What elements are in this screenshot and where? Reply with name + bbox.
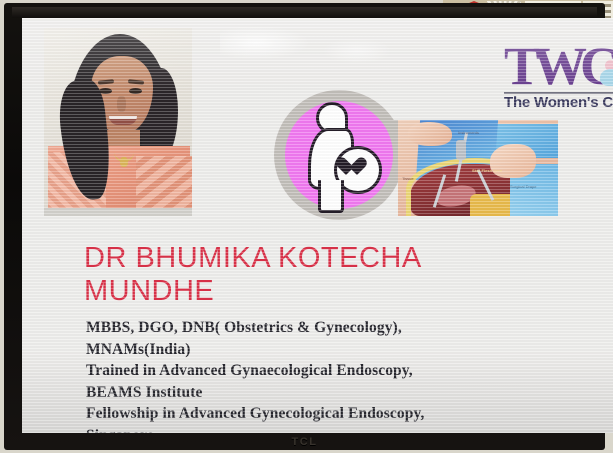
doctor-portrait-photo	[44, 28, 192, 208]
silhouette-legs	[318, 180, 344, 213]
illustration-label-top: Instruments	[458, 130, 479, 135]
title-line-1: DR BHUMIKA KOTECHA	[84, 242, 554, 275]
bezel-top-highlight	[12, 7, 597, 18]
baby-icon	[600, 60, 613, 86]
credential-line: Singapore	[86, 425, 586, 434]
credential-line: MBBS, DGO, DNB( Obstetrics & Gynecology)…	[86, 317, 586, 339]
portrait-pendant	[120, 157, 128, 167]
credential-line: MNAMs(India)	[86, 339, 586, 361]
tv-screen-slide: Instruments Skin Flesh Area Surgical Dra…	[22, 18, 613, 433]
credential-line: BEAMS Institute	[86, 382, 586, 404]
page-title: DR BHUMIKA KOTECHA MUNDHE	[84, 242, 554, 308]
illustration-clamp	[456, 140, 466, 160]
illustration-label-left: Tissue	[402, 176, 414, 181]
pregnancy-icon	[274, 90, 404, 220]
credentials-list: MBBS, DGO, DNB( Obstetrics & Gynecology)…	[86, 317, 586, 433]
twc-monogram: TWC	[504, 38, 613, 94]
clinic-logo: TWC The Women's Clin	[504, 38, 613, 116]
illustration-label-middle: Skin Flesh Area	[472, 168, 502, 173]
clinic-name: The Women's Clin	[504, 94, 613, 111]
portrait-bottom-strip	[44, 208, 192, 216]
portrait-eye-right	[129, 88, 142, 94]
baby-body	[600, 69, 613, 86]
credential-line: Trained in Advanced Gynaecological Endos…	[86, 360, 586, 382]
title-line-2: MUNDHE	[84, 275, 554, 308]
tv-brand-logo: TCL	[4, 436, 605, 448]
illustration-label-right: Surgical Drape	[510, 184, 536, 189]
surgical-anatomy-illustration: Instruments Skin Flesh Area Surgical Dra…	[398, 120, 558, 216]
pregnant-woman-silhouette	[304, 102, 376, 210]
heart-icon	[346, 158, 366, 176]
portrait-nose	[117, 96, 126, 112]
portrait-sari-right-drape	[136, 156, 192, 208]
screen-glare-secondary	[322, 38, 392, 64]
credential-line: Fellowship in Advanced Gynecological End…	[86, 403, 586, 425]
illustration-hand-left	[408, 122, 452, 146]
screen-glare	[220, 26, 310, 60]
television-set: 75" TCL	[0, 0, 613, 453]
